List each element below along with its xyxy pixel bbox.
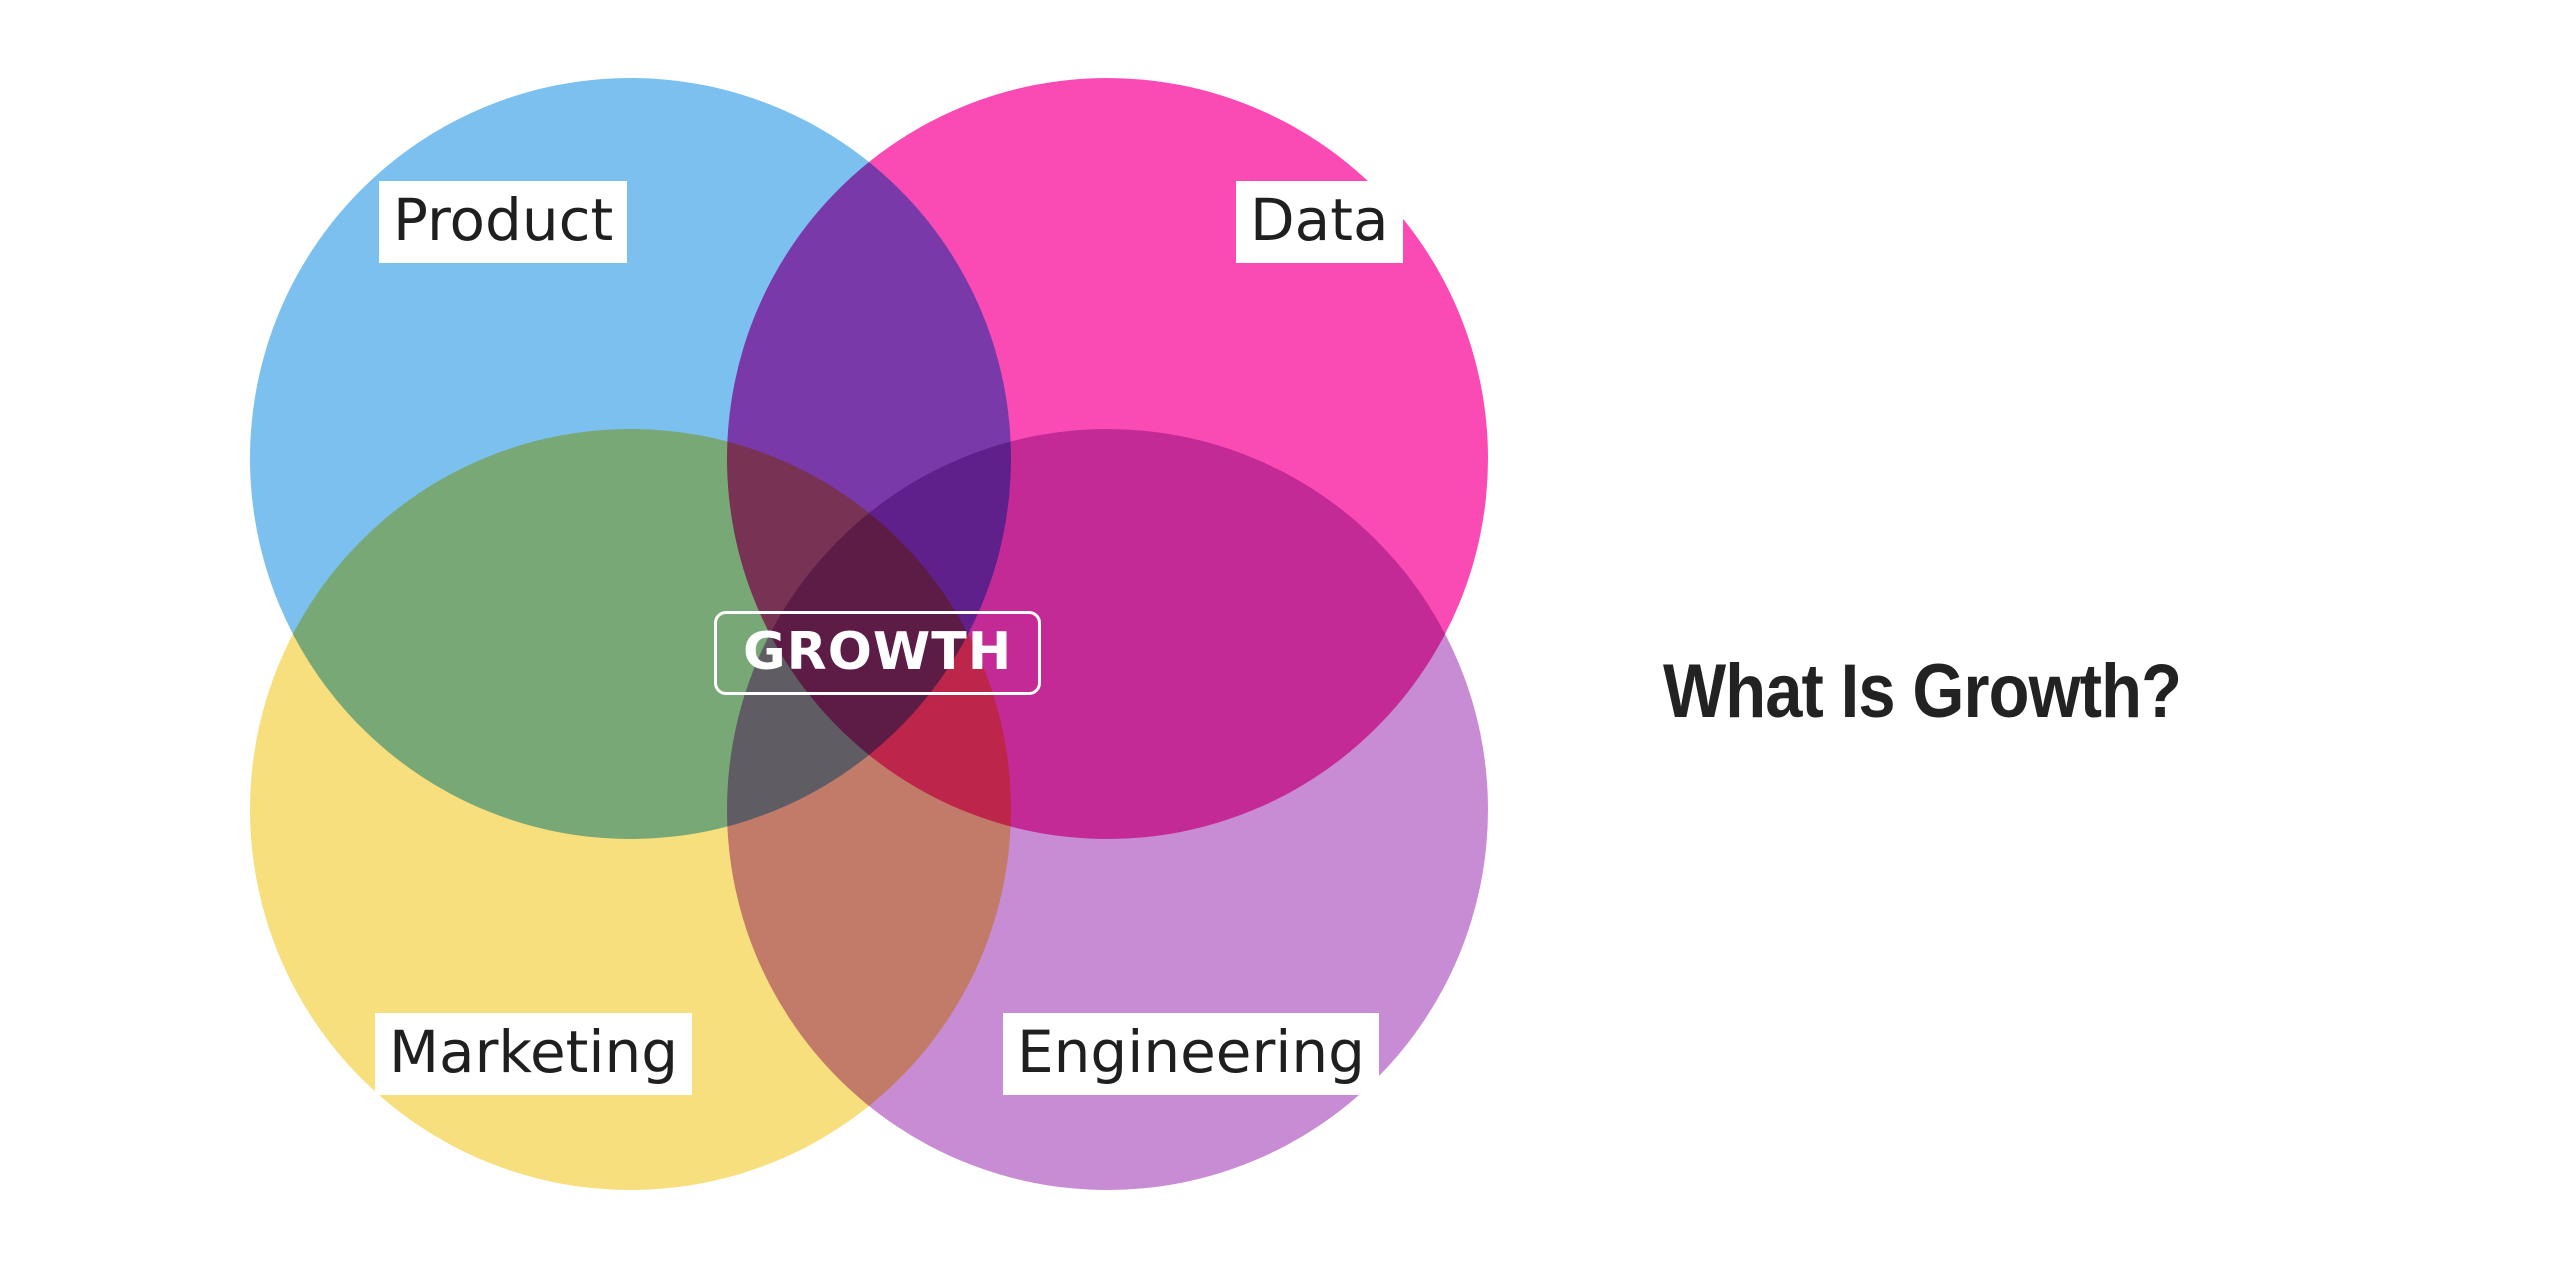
venn-label-marketing: Marketing <box>375 1013 692 1095</box>
venn-label-engineering: Engineering <box>1003 1013 1379 1095</box>
page-title: What Is Growth? <box>1663 649 2358 734</box>
venn-center-growth-badge: GROWTH <box>714 611 1041 695</box>
venn-label-product: Product <box>379 181 627 263</box>
venn-label-data: Data <box>1236 181 1403 263</box>
venn-diagram: Product Data Marketing Engineering GROWT… <box>250 78 1488 1190</box>
slide-canvas: Product Data Marketing Engineering GROWT… <box>0 0 2560 1278</box>
